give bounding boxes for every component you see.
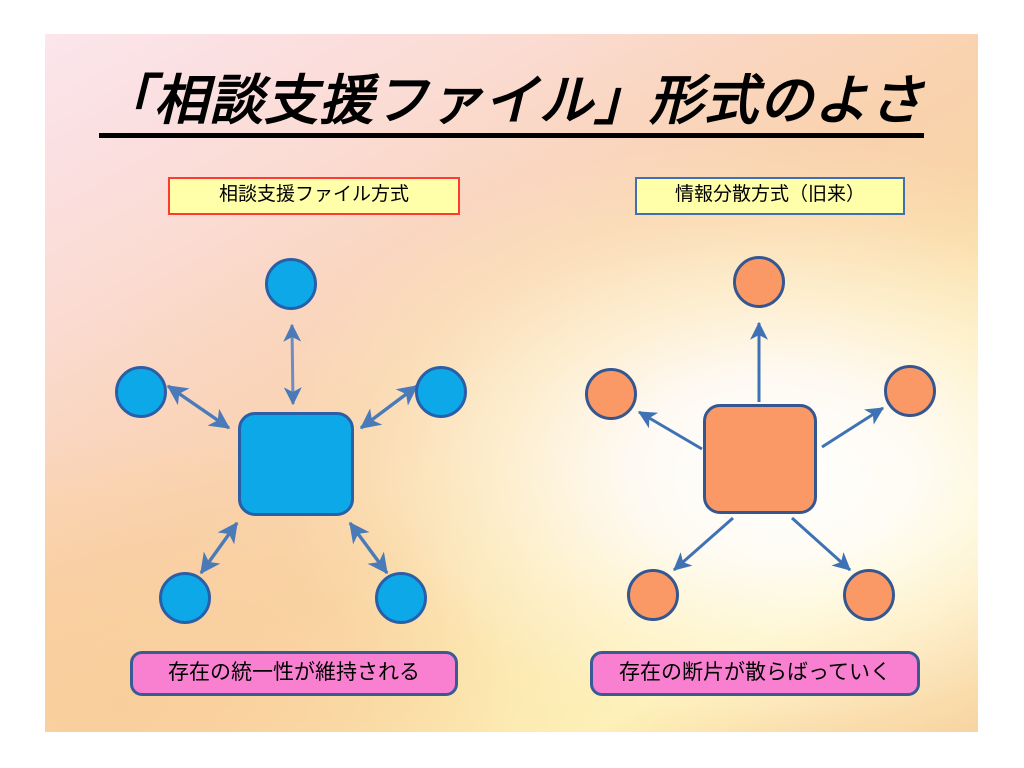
section-label-right: 情報分散方式（旧来）	[635, 177, 905, 215]
section-label-left-text: 相談支援ファイル方式	[219, 184, 409, 205]
caption-right-text: 存在の断片が散らばっていく	[619, 661, 891, 684]
left-hub-node	[238, 412, 354, 516]
edge-left-hub-lower-left	[201, 523, 237, 573]
caption-left: 存在の統一性が維持される	[130, 651, 458, 696]
left-satellite-lower-right	[375, 572, 427, 624]
right-satellite-lower-right	[843, 569, 895, 621]
page-title-text: 「相談支援ファイル」形式のよさ	[99, 71, 924, 138]
diagram-connectors	[45, 34, 978, 732]
slide-canvas: 「相談支援ファイル」形式のよさ 相談支援ファイル方式 情報分散方式（旧来）	[45, 34, 978, 732]
left-satellite-upper-right	[415, 366, 467, 418]
edge-left-hub-lower-right	[350, 523, 387, 573]
left-satellite-lower-left	[159, 572, 211, 624]
left-satellite-upper-left	[115, 366, 167, 418]
edge-right-hub-lower-right	[792, 518, 850, 570]
edge-right-hub-upper-right	[822, 408, 883, 447]
right-satellite-lower-left	[627, 569, 679, 621]
page-title: 「相談支援ファイル」形式のよさ	[45, 70, 978, 138]
edge-left-hub-top	[292, 325, 293, 404]
left-satellite-top	[265, 258, 317, 310]
right-satellite-upper-right	[884, 365, 936, 417]
edge-left-hub-upper-left	[168, 386, 229, 428]
caption-left-text: 存在の統一性が維持される	[168, 661, 420, 684]
right-hub-node	[703, 404, 817, 514]
section-label-right-text: 情報分散方式（旧来）	[675, 184, 865, 205]
edge-right-hub-upper-left	[639, 412, 702, 449]
section-label-left: 相談支援ファイル方式	[168, 177, 460, 215]
right-satellite-upper-left	[585, 368, 637, 420]
caption-right: 存在の断片が散らばっていく	[590, 651, 920, 696]
right-satellite-top	[733, 256, 785, 308]
edge-left-hub-upper-right	[361, 386, 417, 428]
edge-right-hub-lower-left	[674, 518, 733, 570]
